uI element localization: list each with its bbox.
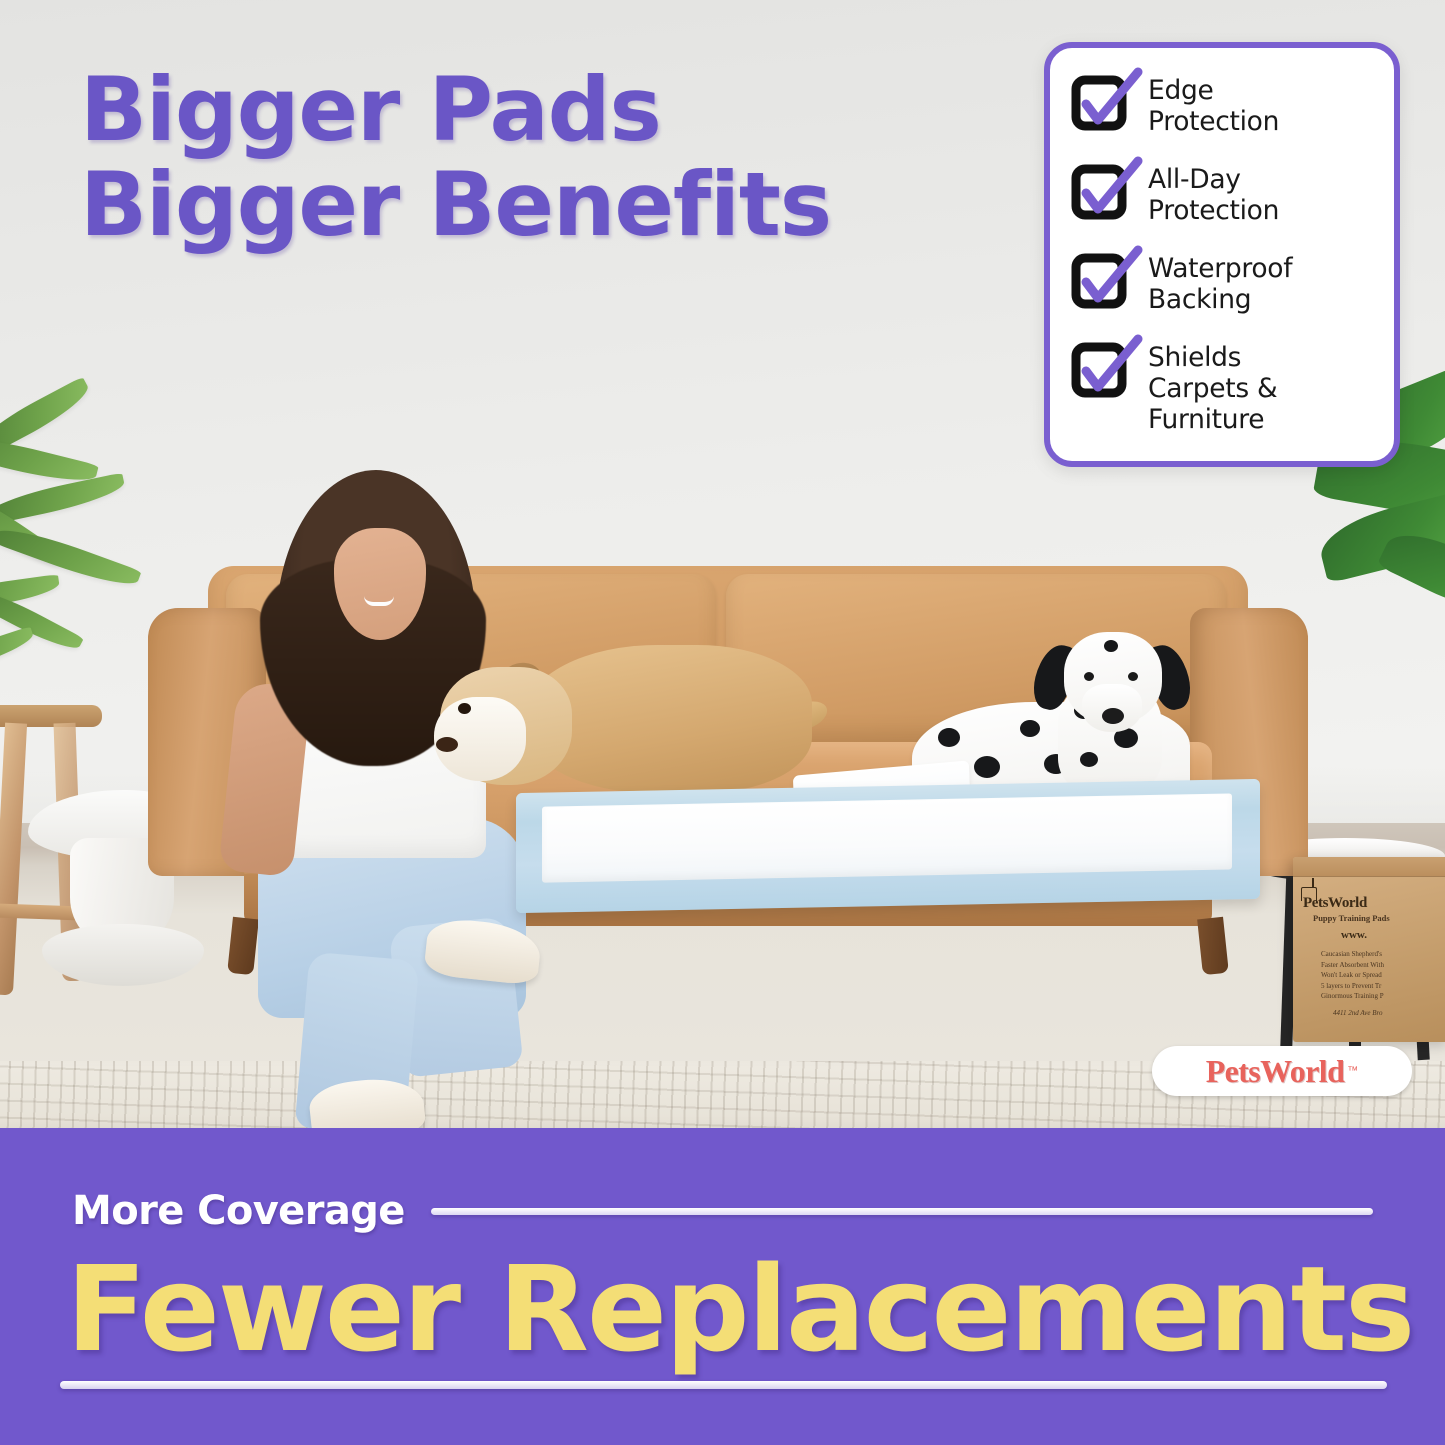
box-feature-item: Caucasian Shepherd's: [1321, 949, 1445, 960]
product-cardboard-box: PetsWorld Puppy Training Pads www. Cauca…: [1293, 857, 1445, 1042]
box-feature-item: Won't Leak or Spread: [1321, 970, 1445, 981]
training-pad-main: [516, 779, 1260, 913]
benefit-line-1: All-Day: [1148, 164, 1241, 195]
bottom-promo-banner: More Coverage Fewer Replacements: [0, 1128, 1445, 1445]
dalmatian-spot: [974, 756, 1000, 778]
box-address: 4411 2nd Ave Bro: [1333, 1009, 1382, 1017]
box-website: www.: [1341, 929, 1367, 941]
benefits-checklist-card: Edge Protection All-Day Protection: [1044, 42, 1400, 467]
benefit-line-1: Edge: [1148, 75, 1214, 106]
box-feature-item: 5 layers to Prevent Tr: [1321, 981, 1445, 992]
training-pad-absorbent-core: [542, 793, 1232, 882]
banner-top-row: More Coverage: [72, 1188, 1373, 1234]
benefit-line-1: Waterproof: [1148, 253, 1292, 284]
bulldog-nose: [436, 737, 458, 752]
checked-checkbox-icon: [1074, 254, 1128, 306]
benefit-line-1: Shields: [1148, 342, 1241, 373]
plant-leaf: [0, 626, 36, 680]
sofa-leg: [1197, 917, 1229, 975]
banner-divider-bottom: [60, 1381, 1387, 1389]
benefit-row-waterproof-backing: Waterproof Backing: [1074, 252, 1372, 315]
benefit-row-edge-protection: Edge Protection: [1074, 74, 1372, 137]
dalmatian-spot: [1020, 720, 1040, 737]
banner-subheadline: More Coverage: [72, 1188, 405, 1234]
headline-block: Bigger Pads Bigger Benefits: [80, 62, 920, 252]
benefit-label: All-Day Protection: [1148, 163, 1279, 226]
box-feature-item: Ginormous Training P: [1321, 991, 1445, 1002]
benefit-line-3: Furniture: [1148, 404, 1264, 435]
stool-leg: [0, 723, 27, 996]
checked-checkbox-icon: [1074, 165, 1128, 217]
checked-checkbox-icon: [1074, 343, 1128, 395]
dalmatian-spot: [938, 728, 960, 747]
benefit-line-2: Protection: [1148, 195, 1279, 226]
headline-line-1: Bigger Pads: [80, 62, 920, 157]
marketing-image-stage: PetsWorld Puppy Training Pads www. Cauca…: [0, 0, 1445, 1445]
dalmatian-eye: [1128, 672, 1138, 681]
bulldog-eye: [458, 703, 471, 714]
benefit-row-shields-carpets-furniture: Shields Carpets & Furniture: [1074, 341, 1372, 435]
box-subtitle: Puppy Training Pads: [1313, 913, 1390, 923]
box-feature-list: Caucasian Shepherd's Faster Absorbent Wi…: [1321, 949, 1445, 1002]
benefit-label: Waterproof Backing: [1148, 252, 1292, 315]
banner-headline: Fewer Replacements: [66, 1240, 1413, 1378]
benefit-line-2: Protection: [1148, 106, 1279, 137]
benefit-row-all-day-protection: All-Day Protection: [1074, 163, 1372, 226]
dalmatian-eye: [1084, 672, 1094, 681]
benefit-label: Shields Carpets & Furniture: [1148, 341, 1277, 435]
benefit-line-2: Backing: [1148, 284, 1251, 315]
benefit-label: Edge Protection: [1148, 74, 1279, 137]
petsworld-logo-text: PetsWorld: [1206, 1053, 1345, 1090]
checked-checkbox-icon: [1074, 76, 1128, 128]
benefit-line-2: Carpets &: [1148, 373, 1277, 404]
box-brand-name: PetsWorld: [1303, 895, 1367, 912]
headline-line-2: Bigger Benefits: [80, 157, 920, 252]
trademark-symbol: ™: [1347, 1065, 1358, 1077]
dalmatian-spot: [1104, 640, 1118, 652]
dalmatian-spot: [1080, 752, 1098, 767]
plant-leaf: [0, 473, 127, 526]
dalmatian-nose: [1102, 708, 1124, 724]
petsworld-logo-badge: PetsWorld ™: [1152, 1046, 1412, 1096]
box-flap: [1293, 857, 1445, 877]
box-feature-item: Faster Absorbent With: [1321, 960, 1445, 971]
banner-divider-top: [431, 1208, 1373, 1215]
